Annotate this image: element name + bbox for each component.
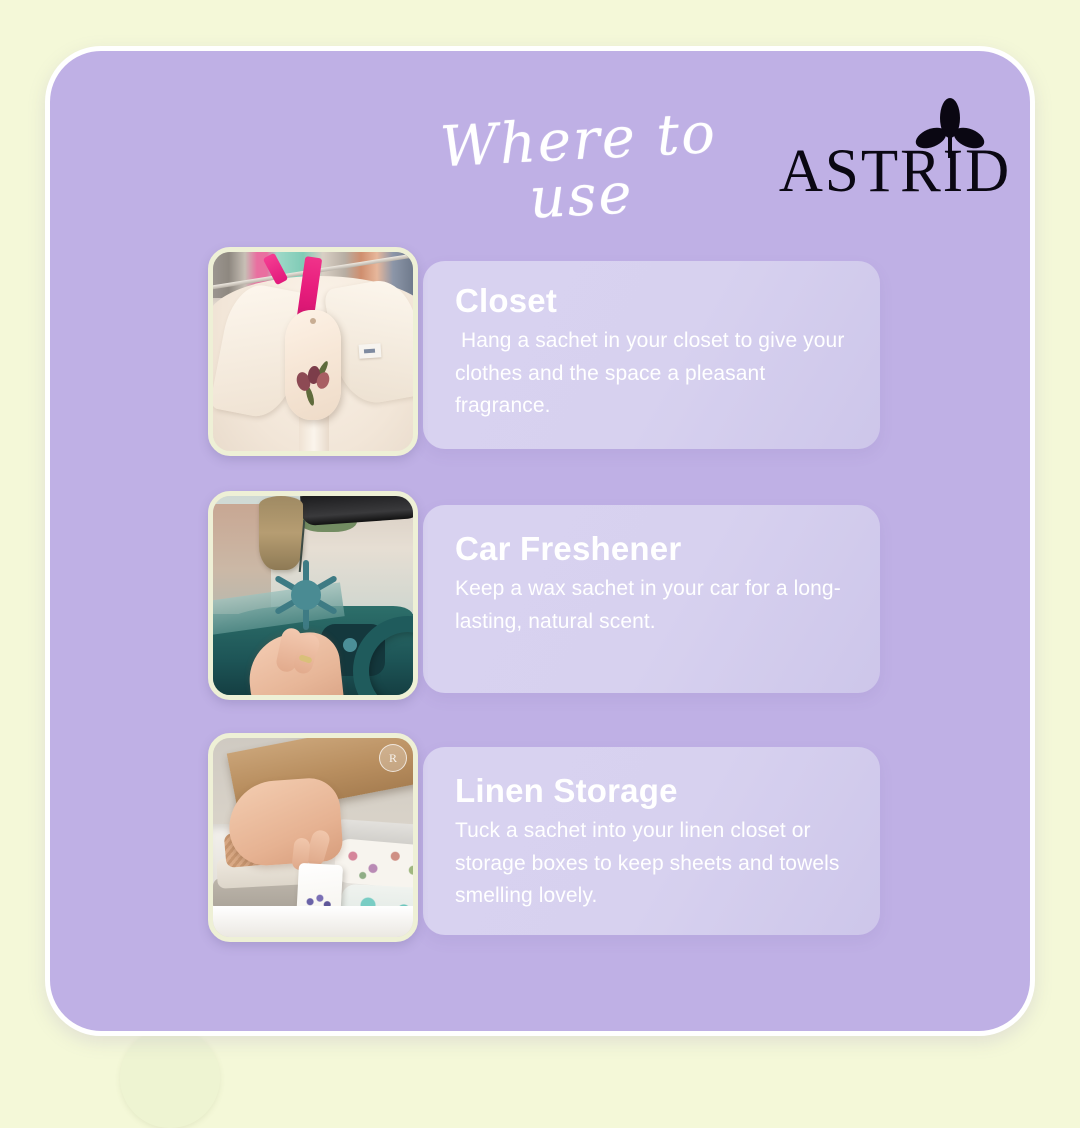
- section-description: Tuck a sachet into your linen closet or …: [455, 815, 850, 913]
- closet-photo: [213, 252, 413, 451]
- decorative-circle: [120, 1028, 220, 1128]
- snowflake-sachet: [269, 558, 343, 632]
- poster-canvas: Where to use ASTRID Closet Hang a sachet…: [0, 0, 1080, 1080]
- section-description: Hang a sachet in your closet to give you…: [455, 325, 850, 423]
- section-text-panel: Linen Storage Tuck a sachet into your li…: [423, 747, 880, 935]
- section-thumbnail-car-freshener[interactable]: [208, 491, 418, 700]
- poster-header: Where to use ASTRID: [50, 51, 1030, 231]
- section-row-linen-storage: Linen Storage Tuck a sachet into your li…: [50, 733, 1035, 943]
- section-row-closet: Closet Hang a sachet in your closet to g…: [50, 247, 1035, 457]
- section-text-panel: Closet Hang a sachet in your closet to g…: [423, 261, 880, 449]
- linen-photo: R: [213, 738, 413, 937]
- section-title: Linen Storage: [455, 773, 850, 809]
- main-content-card: Where to use ASTRID Closet Hang a sachet…: [45, 46, 1035, 1036]
- section-text-panel: Car Freshener Keep a wax sachet in your …: [423, 505, 880, 693]
- section-title: Closet: [455, 283, 850, 319]
- photo-watermark: R: [379, 744, 407, 772]
- page-title: Where to use: [377, 103, 782, 236]
- section-thumbnail-closet[interactable]: [208, 247, 418, 456]
- section-row-car-freshener: Car Freshener Keep a wax sachet in your …: [50, 491, 1035, 701]
- section-title: Car Freshener: [455, 531, 850, 567]
- brand-name: ASTRID: [765, 141, 1025, 202]
- brand-logo: ASTRID: [765, 96, 1025, 216]
- car-photo: [213, 496, 413, 695]
- section-description: Keep a wax sachet in your car for a long…: [455, 573, 850, 638]
- section-thumbnail-linen-storage[interactable]: R: [208, 733, 418, 942]
